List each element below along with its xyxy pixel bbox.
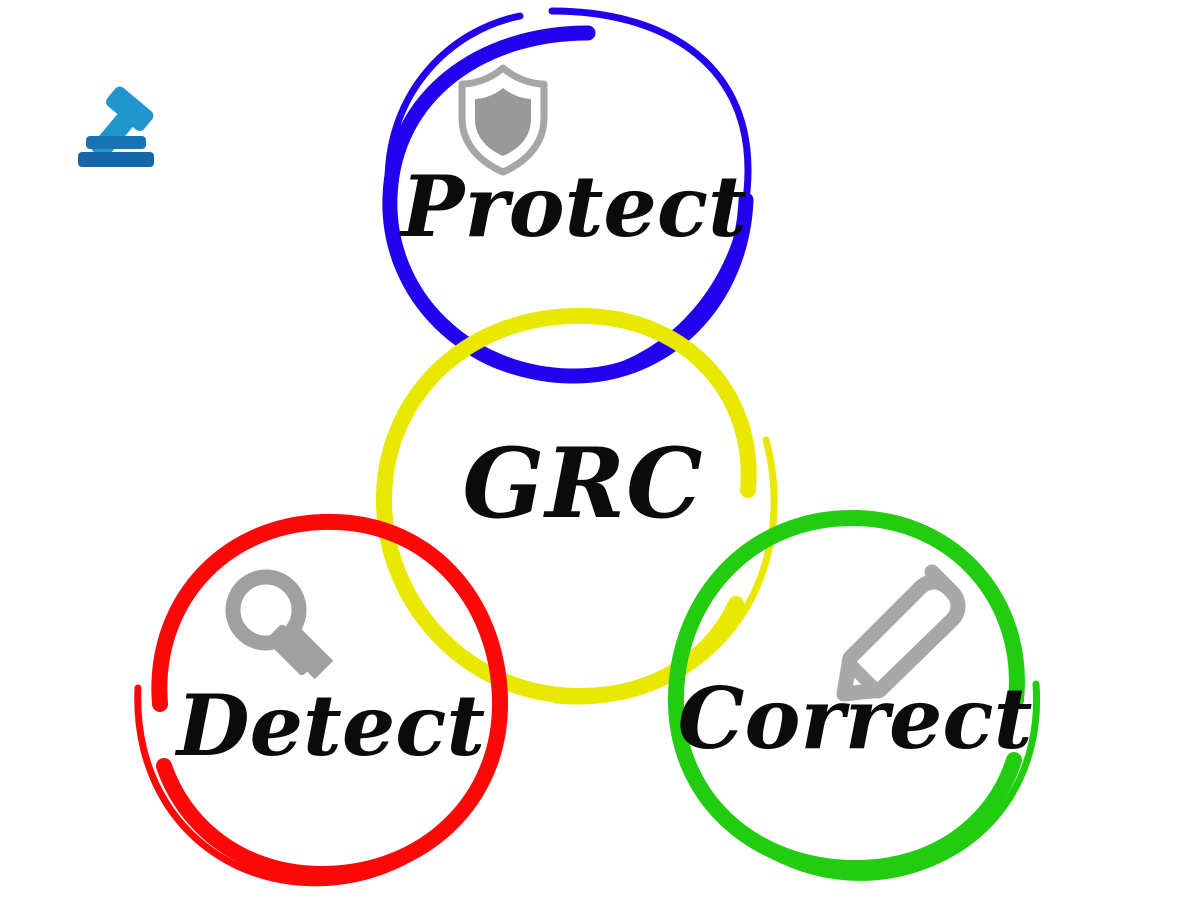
magnifier-icon	[233, 577, 324, 677]
protect-label: Protect	[399, 157, 747, 256]
gavel-icon[interactable]	[75, 84, 155, 167]
gavel-upper-bar	[86, 136, 146, 149]
gavel-lower-bar	[78, 152, 154, 167]
diagram-canvas: Protect GRC Detect	[0, 0, 1200, 900]
grc-label: GRC	[462, 427, 703, 540]
correct-label: Correct	[678, 669, 1033, 768]
detect-label: Detect	[175, 676, 485, 775]
grc-diagram-svg: Protect GRC Detect	[0, 0, 1200, 900]
